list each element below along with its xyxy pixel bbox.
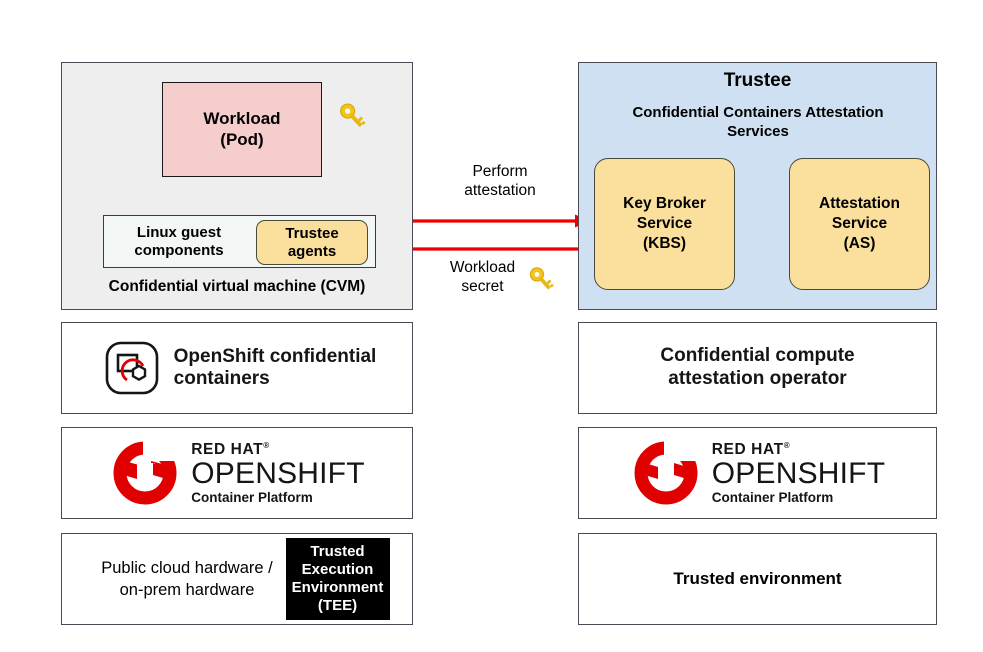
as-line3: (AS) [844,234,876,254]
openshift-product-text: OPENSHIFT [712,459,885,489]
trustee-agents-line1: Trustee [285,225,338,243]
workload-pod-box[interactable]: Workload (Pod) [162,82,322,177]
tee-line2: Execution [302,561,374,579]
tee-line1: Trusted [310,543,364,561]
tee-line4: (TEE) [318,597,357,615]
kbs-line1: Key Broker [623,194,706,214]
key-icon [336,100,370,134]
confidential-compute-attestation-operator-box[interactable]: Confidential compute attestation operato… [578,322,937,414]
trustee-subtitle-line2: Services [598,123,918,142]
redhat-openshift-logo-box-right[interactable]: RED HAT® OPENSHIFT Container Platform [578,427,937,519]
linux-guest-components-label: Linux guest components [104,224,254,260]
workload-line2: (Pod) [220,130,263,151]
ccao-line2: attestation operator [660,368,854,391]
container-platform-text: Container Platform [712,491,885,505]
red-hat-logo-icon [630,439,702,507]
linux-guest-line1: Linux guest [104,224,254,242]
perform-attestation-line2: attestation [430,181,570,200]
trademark-symbol: ® [263,441,270,450]
ccao-label: Confidential compute attestation operato… [660,345,854,391]
openshift-confidential-containers-label: OpenShift confidential containers [174,346,377,391]
hardware-label: Public cloud hardware / on-prem hardware [85,557,290,602]
openshift-confidential-containers-box[interactable]: OpenShift confidential containers [61,322,413,414]
linux-guest-components-box[interactable]: Linux guest components Trustee agents [103,215,376,268]
openshift-confidential-containers-icon [104,340,160,396]
kbs-line2: Service [637,214,692,234]
ccao-line1: Confidential compute [660,345,854,368]
redhat-brand-text: RED HAT® [712,442,885,458]
trustee-title: Trustee [578,70,937,92]
as-line1: Attestation [819,194,900,214]
occ-line2: containers [174,368,377,390]
perform-attestation-label: Perform attestation [430,162,570,201]
perform-attestation-line1: Perform [430,162,570,181]
redhat-brand-text: RED HAT® [191,442,364,458]
kbs-line3: (KBS) [643,234,686,254]
trustee-subtitle: Confidential Containers Attestation Serv… [598,104,918,142]
redhat-openshift-logo-box-left[interactable]: RED HAT® OPENSHIFT Container Platform [61,427,413,519]
trusted-environment-box[interactable]: Trusted environment [578,533,937,625]
red-hat-logo-icon [109,439,181,507]
trustee-agents-box[interactable]: Trustee agents [256,220,368,265]
tee-line3: Environment [292,579,384,597]
trusted-execution-environment-box[interactable]: Trusted Execution Environment (TEE) [286,538,390,620]
hardware-tee-box[interactable]: Public cloud hardware / on-prem hardware… [61,533,413,625]
trademark-symbol: ® [784,441,791,450]
occ-line1: OpenShift confidential [174,346,377,368]
cvm-caption: Confidential virtual machine (CVM) [61,278,413,296]
trusted-environment-label: Trusted environment [673,569,841,589]
trustee-agents-line2: agents [288,243,336,261]
trustee-subtitle-line1: Confidential Containers Attestation [598,104,918,123]
container-platform-text: Container Platform [191,491,364,505]
openshift-product-text: OPENSHIFT [191,459,364,489]
as-line2: Service [832,214,887,234]
linux-guest-line2: components [104,242,254,260]
key-broker-service-box[interactable]: Key Broker Service (KBS) [594,158,735,290]
hardware-line1: Public cloud hardware / [85,557,290,579]
attestation-service-box[interactable]: Attestation Service (AS) [789,158,930,290]
workload-line1: Workload [203,109,280,130]
hardware-line2: on-prem hardware [85,579,290,601]
key-icon [526,264,558,296]
